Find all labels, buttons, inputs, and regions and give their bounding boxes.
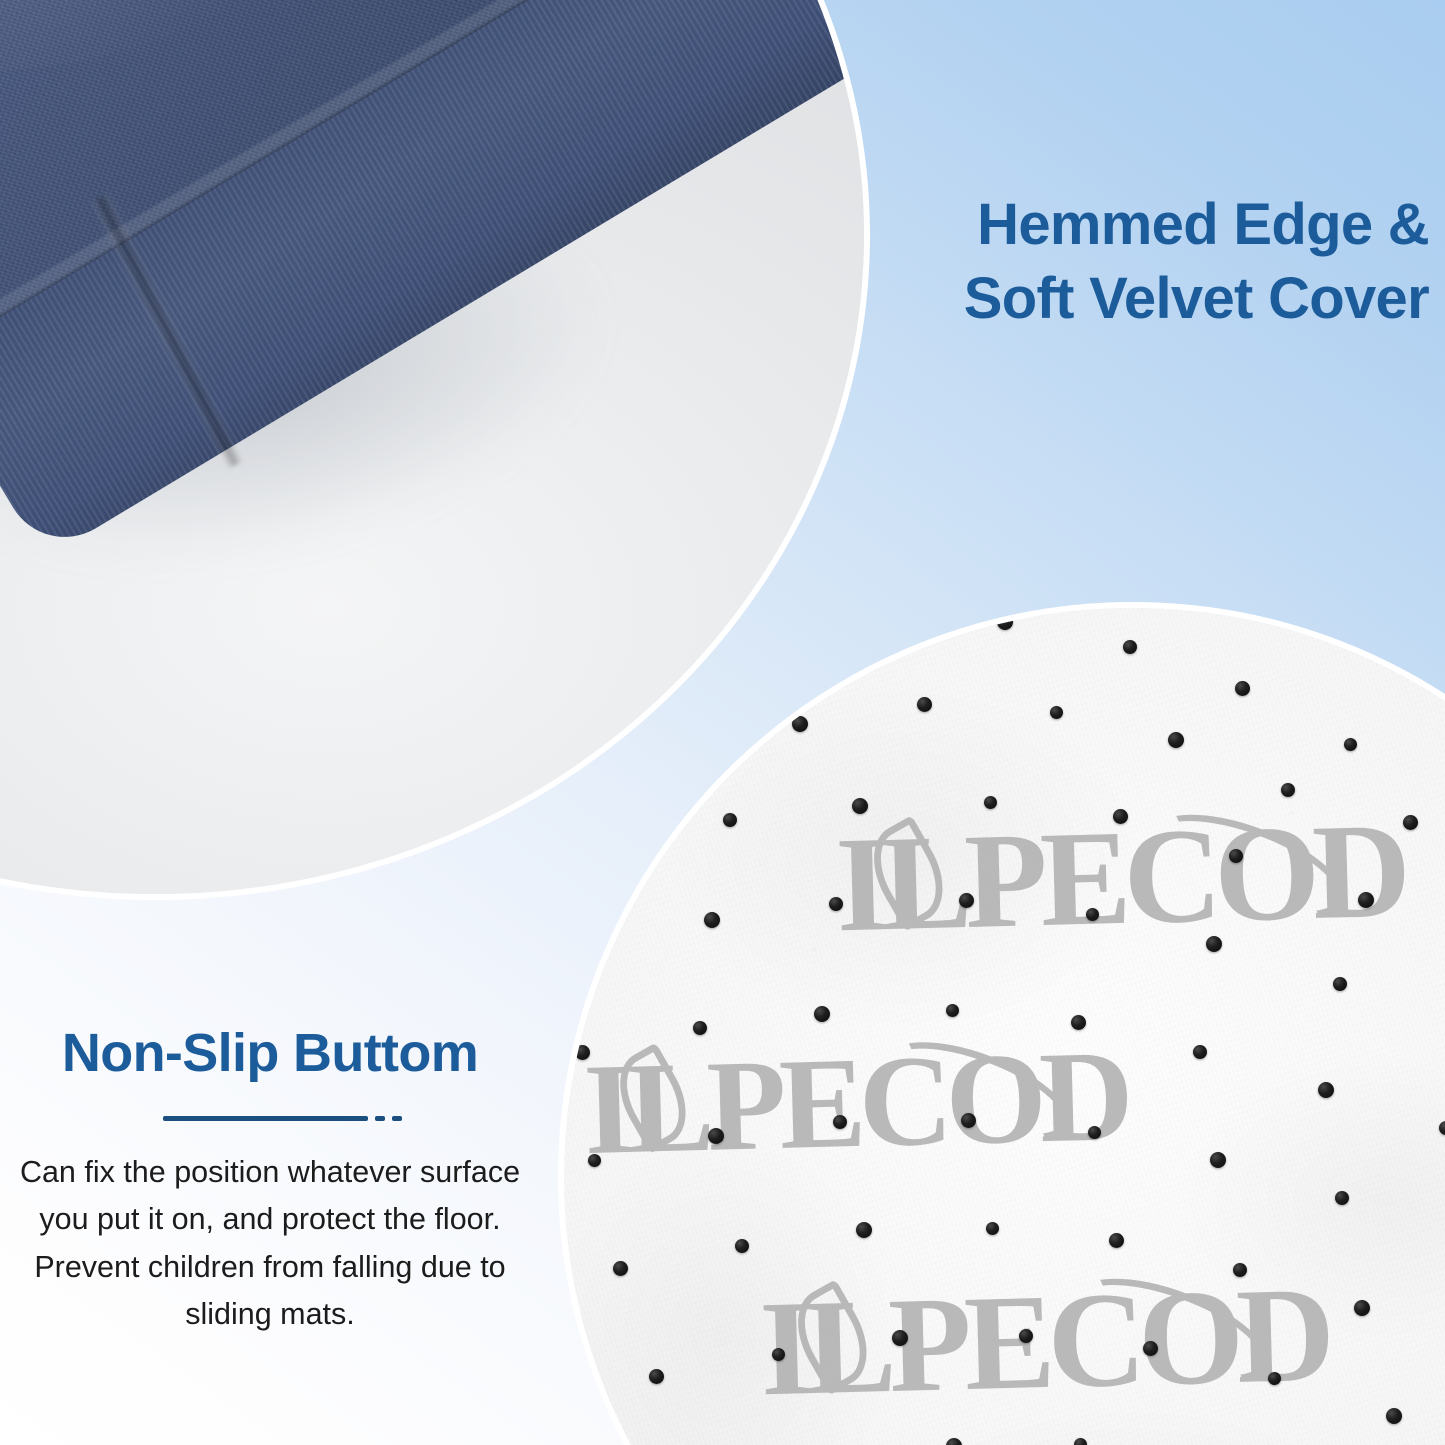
grip-dot	[649, 1369, 664, 1384]
grip-dot	[984, 796, 997, 809]
grip-dot	[1086, 908, 1099, 921]
bottom-feature-heading: Non-Slip Buttom	[0, 1025, 540, 1082]
divider-dash-2	[392, 1116, 402, 1121]
grip-dot	[693, 1021, 707, 1035]
grip-dot	[1229, 849, 1243, 863]
grip-dot	[583, 939, 597, 953]
grip-dot	[1113, 809, 1128, 824]
grip-dot	[1268, 1372, 1281, 1385]
grip-dot	[1358, 892, 1374, 908]
grip-dot	[1318, 1082, 1334, 1098]
product-feature-infographic: Hemmed Edge & Soft Velvet Cover ILPECODI…	[0, 0, 1445, 1445]
grip-dot	[986, 1222, 999, 1235]
brand-watermark: ILPECOD	[582, 1021, 1128, 1185]
grip-dot	[1050, 706, 1063, 719]
top-heading-line-2: Soft Velvet Cover	[964, 262, 1429, 336]
grip-dot	[959, 893, 974, 908]
grip-dot	[735, 1239, 749, 1253]
grip-dot	[814, 1006, 830, 1022]
grip-dot	[961, 1113, 976, 1128]
grip-dot	[946, 1004, 959, 1017]
brand-watermark: ILPECOD	[758, 1257, 1329, 1428]
grip-dot	[1281, 783, 1295, 797]
grip-dot	[708, 1128, 724, 1144]
grip-dot	[860, 622, 873, 635]
grip-dot	[1210, 1152, 1226, 1168]
grip-dot	[829, 897, 843, 911]
grip-dot	[1235, 681, 1250, 696]
grip-dot	[1088, 1126, 1101, 1139]
grip-dot	[601, 833, 616, 848]
grip-dot	[1333, 977, 1347, 991]
grip-dot	[588, 1154, 601, 1167]
heading-divider	[0, 1116, 540, 1121]
grip-dot	[1344, 738, 1357, 751]
grip-dot	[833, 1115, 847, 1129]
grip-dot	[1335, 1191, 1349, 1205]
grip-dot	[997, 614, 1013, 630]
grip-dot	[1354, 1300, 1370, 1316]
bottom-feature-body: Can fix the position whatever surface yo…	[0, 1149, 540, 1339]
grip-dot	[792, 716, 808, 732]
grip-dot	[772, 1348, 785, 1361]
grip-dot	[892, 1330, 908, 1346]
grip-dot	[1403, 815, 1418, 830]
grip-dot	[575, 1045, 590, 1060]
non-slip-feature-block: Non-Slip Buttom Can fix the position wha…	[0, 1025, 540, 1339]
grip-dot	[613, 1261, 628, 1276]
grip-dot	[1074, 1438, 1087, 1445]
grip-dot	[1019, 1329, 1033, 1343]
grip-dot	[1071, 1015, 1086, 1030]
top-feature-heading: Hemmed Edge & Soft Velvet Cover	[964, 188, 1429, 336]
grip-dot	[1109, 1233, 1124, 1248]
grip-dot	[704, 912, 720, 928]
grip-dot	[856, 1222, 872, 1238]
grip-dot	[743, 653, 758, 668]
grip-dot	[723, 813, 737, 827]
grip-dot	[1193, 1045, 1207, 1059]
divider-bar	[163, 1116, 368, 1121]
divider-dash-1	[375, 1116, 385, 1121]
grip-dot	[852, 798, 868, 814]
grip-dot	[1233, 1263, 1247, 1277]
grip-dot	[1123, 640, 1137, 654]
grip-dot	[1206, 936, 1222, 952]
grip-dot	[1143, 1341, 1158, 1356]
non-slip-bottom-photo: ILPECODILPECODILPECOD	[558, 602, 1445, 1445]
top-heading-line-1: Hemmed Edge &	[964, 188, 1429, 262]
grip-dot	[1386, 1408, 1402, 1424]
grip-dot	[917, 697, 932, 712]
grip-dot	[1168, 732, 1184, 748]
grip-dot	[653, 739, 667, 753]
